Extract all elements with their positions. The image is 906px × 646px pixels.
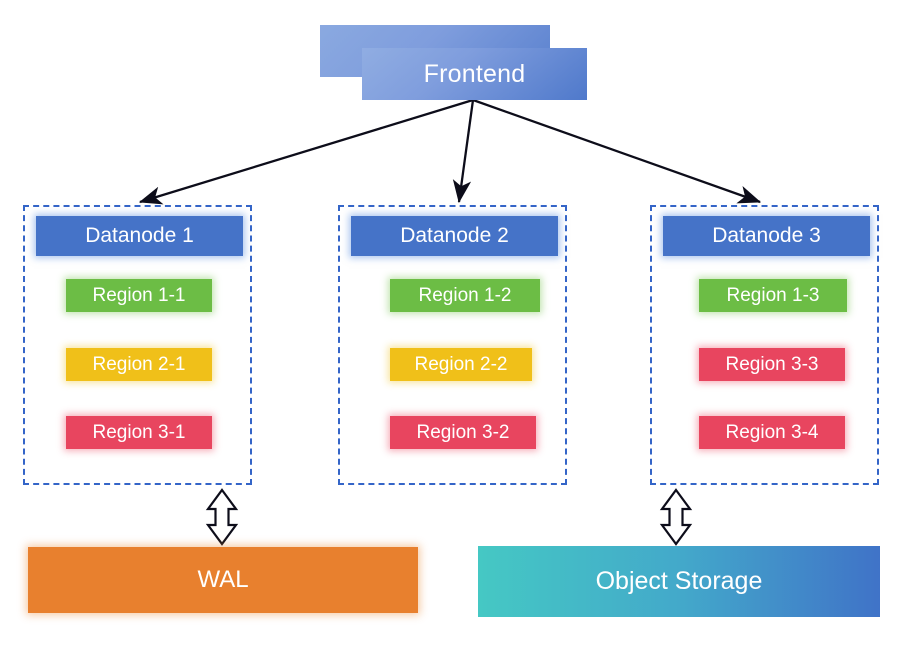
region-1-2[interactable]: Region 1-2: [390, 279, 540, 312]
region-1-2-label: Region 1-2: [419, 285, 512, 307]
region-2-1-label: Region 2-1: [93, 354, 186, 376]
region-1-3-label: Region 1-3: [727, 285, 820, 307]
region-3-1[interactable]: Region 3-1: [66, 416, 212, 449]
architecture-diagram: Frontend Datanode 1 Region 1-1 Region 2-…: [0, 0, 906, 646]
datanode-1-label: Datanode 1: [85, 224, 194, 248]
frontend-fanout-arrows: [140, 100, 760, 202]
frontend-box[interactable]: Frontend: [362, 48, 587, 100]
object-storage-label: Object Storage: [596, 567, 763, 596]
datanode-1-container[interactable]: Datanode 1 Region 1-1 Region 2-1 Region …: [23, 205, 252, 485]
wal-label: WAL: [197, 566, 248, 594]
region-2-1[interactable]: Region 2-1: [66, 348, 212, 381]
frontend-to-datanode-3-arrow: [473, 100, 760, 202]
region-3-1-label: Region 3-1: [93, 422, 186, 444]
datanode-3-to-object-storage-arrow: [662, 490, 690, 544]
object-storage-box[interactable]: Object Storage: [478, 546, 880, 617]
frontend-to-datanode-2-arrow: [459, 100, 473, 202]
frontend-to-datanode-1-arrow: [140, 100, 473, 202]
region-3-3[interactable]: Region 3-3: [699, 348, 845, 381]
frontend-label: Frontend: [424, 60, 526, 89]
datanode-2-container[interactable]: Datanode 2 Region 1-2 Region 2-2 Region …: [338, 205, 567, 485]
datanode-1-header[interactable]: Datanode 1: [36, 216, 243, 256]
region-3-4-label: Region 3-4: [726, 422, 819, 444]
region-1-1[interactable]: Region 1-1: [66, 279, 212, 312]
region-2-2-label: Region 2-2: [415, 354, 508, 376]
datanode-2-label: Datanode 2: [400, 224, 509, 248]
region-2-2[interactable]: Region 2-2: [390, 348, 532, 381]
region-1-3[interactable]: Region 1-3: [699, 279, 847, 312]
region-3-3-label: Region 3-3: [726, 354, 819, 376]
datanode-3-header[interactable]: Datanode 3: [663, 216, 870, 256]
datanode-3-container[interactable]: Datanode 3 Region 1-3 Region 3-3 Region …: [650, 205, 879, 485]
region-3-2-label: Region 3-2: [417, 422, 510, 444]
datanode-2-header[interactable]: Datanode 2: [351, 216, 558, 256]
region-1-1-label: Region 1-1: [93, 285, 186, 307]
region-3-2[interactable]: Region 3-2: [390, 416, 536, 449]
datanode-1-to-wal-arrow: [208, 490, 236, 544]
datanode-3-label: Datanode 3: [712, 224, 821, 248]
wal-box[interactable]: WAL: [28, 547, 418, 613]
region-3-4[interactable]: Region 3-4: [699, 416, 845, 449]
